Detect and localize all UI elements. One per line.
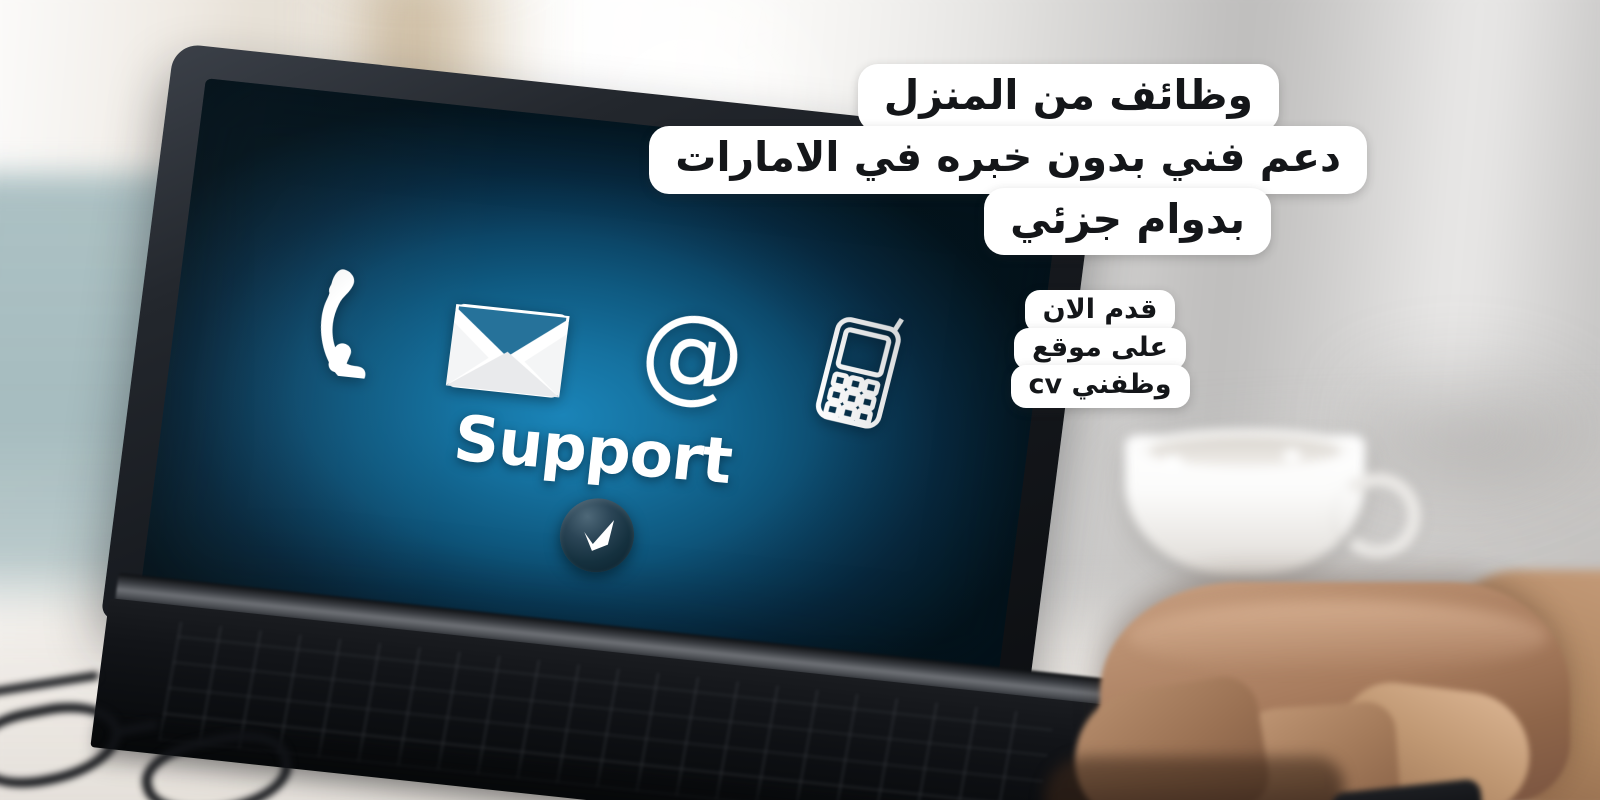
phone-handset-icon [299, 265, 385, 384]
headline-line-3: بدوام جزئي [984, 188, 1271, 256]
cta-line-1: قدم الان [1025, 290, 1176, 333]
at-sign-icon: @ [633, 304, 750, 422]
screenshot-canvas: @ [0, 0, 1600, 800]
eyeglasses-lens-left [0, 692, 128, 797]
cta-line-row: قدم الان [1005, 290, 1195, 333]
mobile-phone-icon [810, 305, 914, 439]
headline-line-row: دعم فني بدون خبره في الامارات [727, 126, 1367, 194]
headline-line-row: وظائف من المنزل [727, 64, 1367, 132]
cta-line-2: على موقع [1014, 328, 1186, 371]
headline-overlay: وظائف من المنزل دعم فني بدون خبره في الا… [727, 64, 1367, 255]
checkmark-icon [572, 511, 621, 559]
coffee-cup-highlight [1163, 455, 1183, 469]
cta-line-row: على موقع [1005, 328, 1195, 371]
eyeglasses-lens-right [136, 722, 298, 800]
coffee-cup-handle [1335, 473, 1421, 559]
coffee-cup-highlight [1283, 449, 1301, 462]
typing-hand [1010, 560, 1600, 800]
hand-knuckles [1128, 600, 1548, 674]
svg-text:@: @ [633, 304, 750, 418]
hand-shadow [1044, 756, 1344, 800]
cta-line-3: وظفني cv [1011, 365, 1190, 408]
headline-line-1: وظائف من المنزل [858, 64, 1279, 132]
cta-overlay: قدم الان على موقع وظفني cv [1005, 290, 1195, 408]
envelope-icon [444, 302, 571, 404]
eyeglasses [0, 658, 390, 800]
headline-line-2: دعم فني بدون خبره في الامارات [649, 126, 1367, 194]
cta-line-row: وظفني cv [1005, 365, 1195, 408]
checkmark-badge [555, 495, 638, 576]
headline-line-row: بدوام جزئي [727, 188, 1367, 256]
